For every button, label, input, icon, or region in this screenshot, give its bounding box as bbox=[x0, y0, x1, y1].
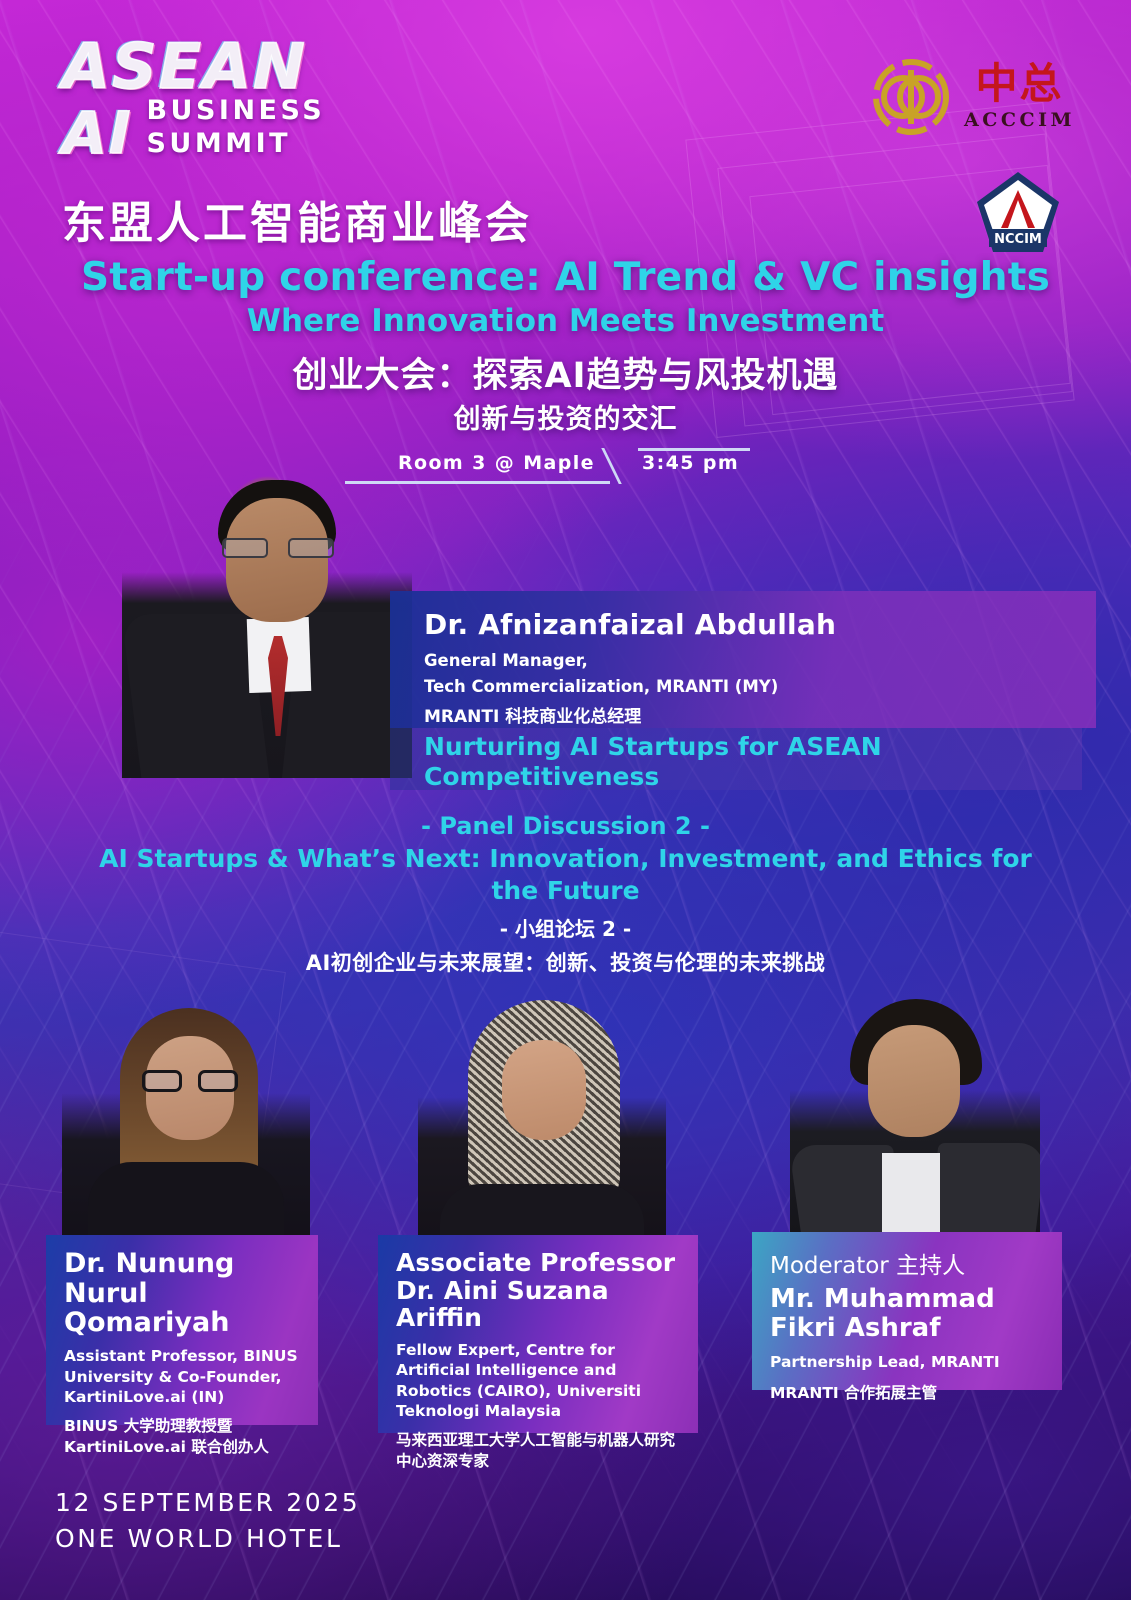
panelist-1-role-cn: BINUS 大学助理教授暨 KartiniLove.ai 联合创办人 bbox=[64, 1416, 302, 1457]
poster-canvas: ASEAN AI BUSINESS SUMMIT 东盟人工智能商业峰会 中总 A… bbox=[0, 0, 1131, 1600]
panelist-2-photo bbox=[418, 988, 666, 1248]
acccim-logo: 中总 ACCCIM bbox=[872, 58, 1075, 136]
event-logo: ASEAN AI BUSINESS SUMMIT 东盟人工智能商业峰会 bbox=[62, 38, 532, 251]
moderator-label: Moderator 主持人 bbox=[770, 1246, 1046, 1280]
keynote-talk-title: Nurturing AI Startups for ASEAN Competit… bbox=[424, 732, 1082, 791]
time-label: 3:45 pm bbox=[642, 452, 739, 474]
logo-chinese-text: 东盟人工智能商业峰会 bbox=[62, 187, 532, 251]
keynote-role-cn: MRANTI 科技商业化总经理 bbox=[424, 706, 1096, 729]
keynote-speaker-photo bbox=[122, 466, 412, 778]
speaker-glasses-icon bbox=[222, 538, 334, 558]
acccim-english-text: ACCCIM bbox=[964, 109, 1075, 131]
acccim-chinese-text: 中总 bbox=[976, 63, 1064, 105]
panelist-3-face bbox=[868, 1025, 960, 1137]
session-title-cn: 创业大会：探索AI趋势与风投机遇 bbox=[0, 347, 1131, 398]
nccim-logo-icon: NCCIM bbox=[975, 170, 1061, 256]
speaker-tie bbox=[268, 636, 288, 736]
panelist-2-card: Associate Professor Dr. Aini Suzana Arif… bbox=[378, 1235, 698, 1433]
panelist-3-role-cn: MRANTI 合作拓展主管 bbox=[770, 1383, 1046, 1404]
logo-summit-text: SUMMIT bbox=[146, 129, 325, 161]
keynote-role-line1: General Manager, bbox=[424, 650, 1096, 672]
panel-title-cn: AI初创企业与未来展望：创新、投资与伦理的未来挑战 bbox=[0, 947, 1131, 977]
footer: 12 SEPTEMBER 2025 ONE WORLD HOTEL bbox=[55, 1485, 360, 1556]
keynote-role-line2: Tech Commercialization, MRANTI (MY) bbox=[424, 676, 1096, 698]
session-title-en: Start-up conference: AI Trend & VC insig… bbox=[0, 255, 1131, 300]
panel-heading: - Panel Discussion 2 - AI Startups & Wha… bbox=[0, 812, 1131, 977]
logo-wordmark: BUSINESS SUMMIT bbox=[146, 96, 325, 160]
acccim-wordmark: 中总 ACCCIM bbox=[964, 63, 1075, 131]
session-subtitle-en: Where Innovation Meets Investment bbox=[0, 303, 1131, 339]
event-venue: ONE WORLD HOTEL bbox=[55, 1521, 360, 1557]
acccim-emblem-icon bbox=[872, 58, 950, 136]
logo-second-row: AI BUSINESS SUMMIT bbox=[62, 96, 532, 160]
logo-ai-text: AI bbox=[62, 106, 132, 161]
keynote-talk-band: Nurturing AI Startups for ASEAN Competit… bbox=[390, 728, 1082, 790]
panelist-1-photo bbox=[62, 990, 310, 1248]
time-overline bbox=[638, 448, 750, 451]
panel-title-en: AI Startups & What’s Next: Innovation, I… bbox=[0, 843, 1131, 907]
panelist-1-role-en: Assistant Professor, BINUS University & … bbox=[64, 1346, 302, 1408]
room-label: Room 3 @ Maple bbox=[398, 452, 595, 474]
panelist-2-role-en: Fellow Expert, Centre for Artificial Int… bbox=[396, 1340, 682, 1422]
keynote-speaker-info: Dr. Afnizanfaizal Abdullah General Manag… bbox=[390, 591, 1096, 728]
panelist-2-face bbox=[502, 1040, 586, 1140]
panelist-3-role-en: Partnership Lead, MRANTI bbox=[770, 1352, 1046, 1373]
speaker-face bbox=[226, 498, 328, 622]
panel-lead-cn: - 小组论坛 2 - bbox=[0, 913, 1131, 942]
svg-text:NCCIM: NCCIM bbox=[994, 232, 1042, 247]
panelist-1-card: Dr. Nunung Nurul Qomariyah Assistant Pro… bbox=[46, 1235, 318, 1425]
panelist-2-role-cn: 马来西亚理工大学人工智能与机器人研究中心资深专家 bbox=[396, 1430, 682, 1471]
session-subtitle-cn: 创新与投资的交汇 bbox=[0, 397, 1131, 436]
logo-business-text: BUSINESS bbox=[146, 96, 325, 128]
panelist-1-glasses-icon bbox=[142, 1070, 238, 1092]
keynote-speaker-name: Dr. Afnizanfaizal Abdullah bbox=[424, 608, 1096, 641]
panelist-2-name: Associate Professor Dr. Aini Suzana Arif… bbox=[396, 1249, 682, 1332]
logo-asean-text: ASEAN bbox=[62, 38, 532, 96]
event-date: 12 SEPTEMBER 2025 bbox=[55, 1485, 360, 1521]
panel-lead-en: - Panel Discussion 2 - bbox=[0, 812, 1131, 840]
panelist-3-name: Mr. Muhammad Fikri Ashraf bbox=[770, 1285, 1046, 1342]
panelist-3-photo bbox=[790, 985, 1040, 1247]
panelist-1-name: Dr. Nunung Nurul Qomariyah bbox=[64, 1249, 302, 1338]
panelist-3-card: Moderator 主持人 Mr. Muhammad Fikri Ashraf … bbox=[752, 1232, 1062, 1390]
